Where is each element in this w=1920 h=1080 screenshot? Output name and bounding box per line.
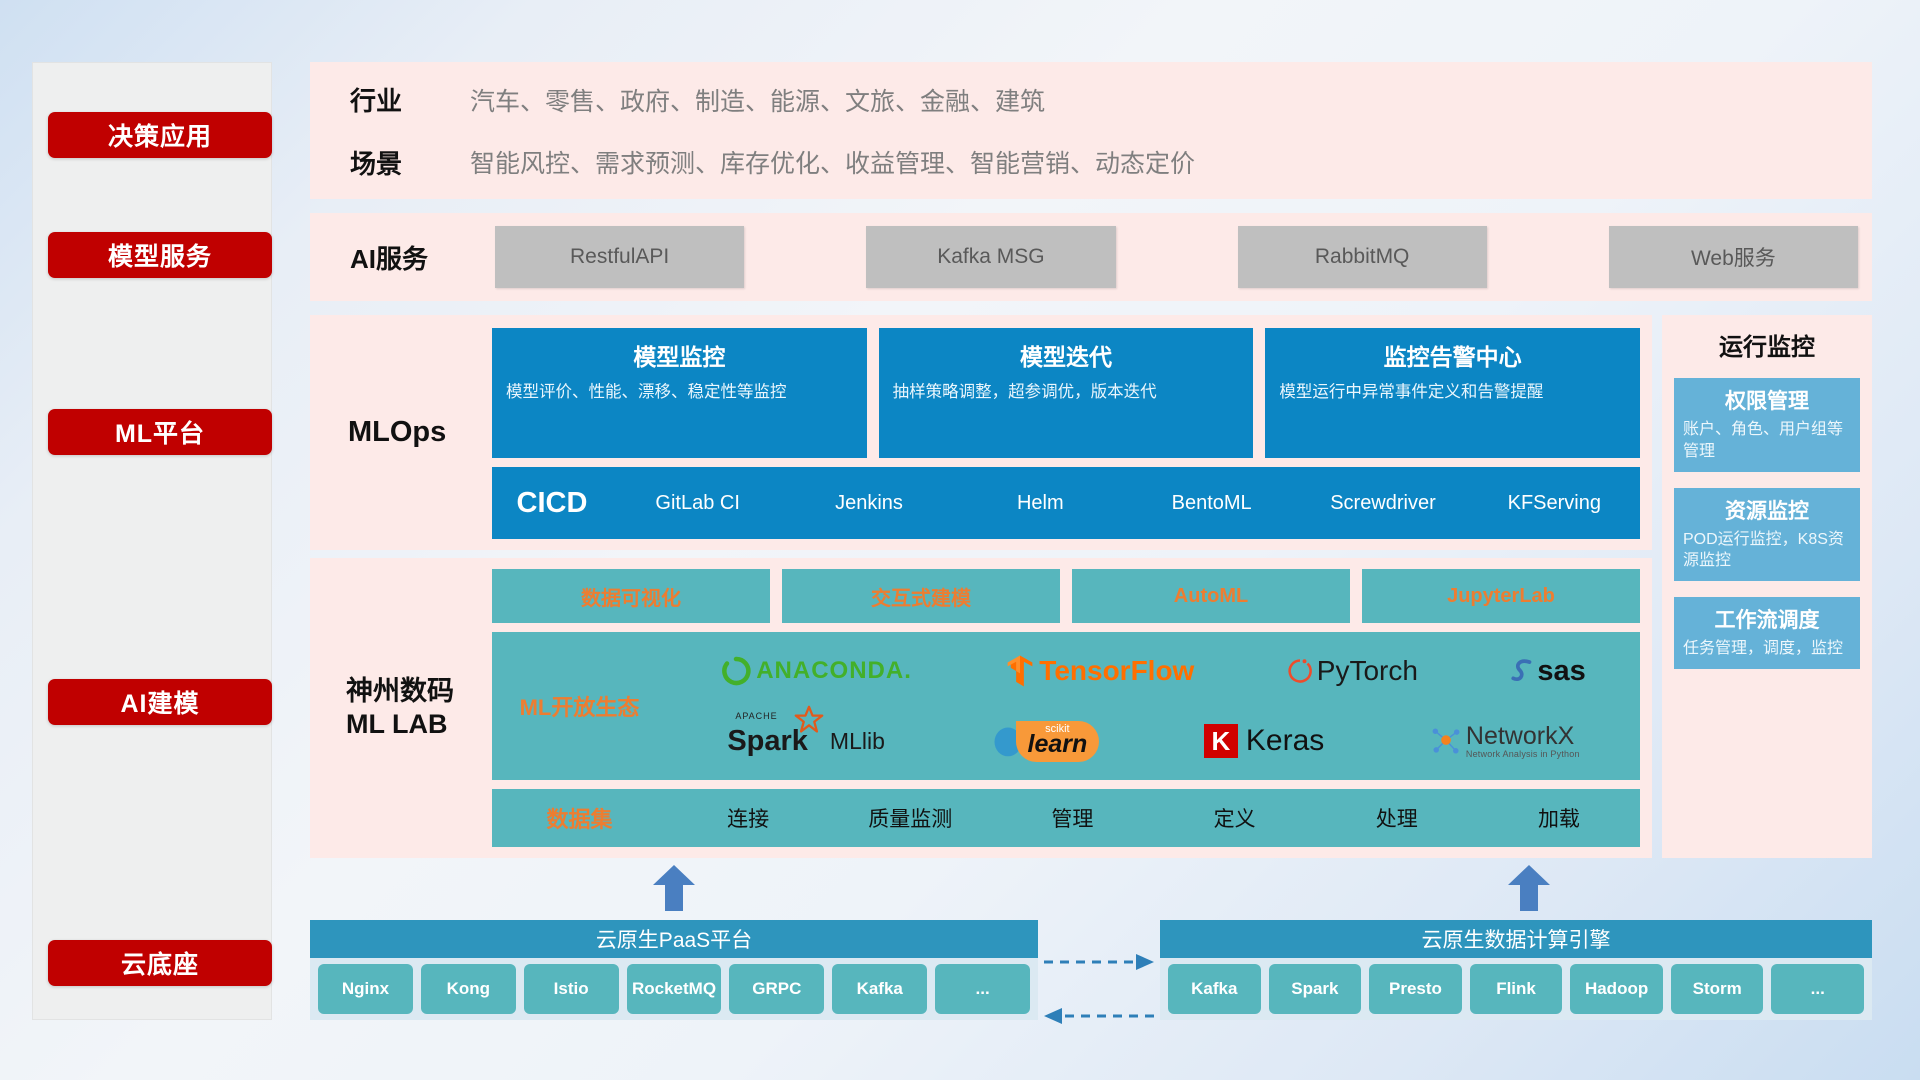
rail-chip-decision-app[interactable]: 决策应用 xyxy=(48,112,272,158)
networkx-logo: NetworkX Network Analysis in Python xyxy=(1429,724,1580,759)
ai-service-band: AI服务 RestfulAPI Kafka MSG RabbitMQ Web服务 xyxy=(310,213,1872,301)
tool-box-interactive-modeling[interactable]: 交互式建模 xyxy=(782,569,1060,623)
pytorch-wordmark: PyTorch xyxy=(1317,655,1418,687)
anaconda-logo: ANACONDA. xyxy=(721,656,912,686)
ml-lab-label-line2: ML LAB xyxy=(346,708,454,741)
up-arrow-right xyxy=(1508,865,1550,911)
mlops-label: MLOps xyxy=(348,315,446,550)
cicd-item-bentoml[interactable]: BentoML xyxy=(1126,493,1297,514)
spark-apache-text: APACHE xyxy=(735,711,777,721)
cicd-item-jenkins[interactable]: Jenkins xyxy=(783,493,954,514)
ml-logo-row-1: ANACONDA. TensorFlow xyxy=(675,638,1632,704)
up-arrow-icon xyxy=(1508,865,1550,911)
engine-chip-kafka[interactable]: Kafka xyxy=(1168,964,1261,1014)
bidirectional-link-arrows xyxy=(1038,920,1160,1040)
cicd-item-group: GitLab CI Jenkins Helm BentoML Screwdriv… xyxy=(612,493,1640,514)
engine-chip-spark[interactable]: Spark xyxy=(1269,964,1362,1014)
networkx-tagline: Network Analysis in Python xyxy=(1466,749,1580,759)
cloud-chip-more[interactable]: ... xyxy=(935,964,1030,1014)
dataset-item-quality[interactable]: 质量监测 xyxy=(829,803,991,833)
cloud-chip-nginx[interactable]: Nginx xyxy=(318,964,413,1014)
scikit-learn-logo: scikit learn xyxy=(990,721,1100,762)
cicd-title: CICD xyxy=(492,487,612,520)
mlops-band: MLOps 模型监控 模型评价、性能、漂移、稳定性等监控 模型迭代 抽样策略调整… xyxy=(310,315,1652,550)
monitoring-card-permission[interactable]: 权限管理 账户、角色、用户组等管理 xyxy=(1674,378,1860,472)
keras-icon: K xyxy=(1204,724,1238,758)
cloud-data-engine-chip-group: Kafka Spark Presto Flink Hadoop Storm ..… xyxy=(1160,958,1872,1020)
cicd-item-gitlab-ci[interactable]: GitLab CI xyxy=(612,493,783,514)
sas-logo: sas xyxy=(1510,655,1585,688)
learn-text: learn xyxy=(1028,732,1088,757)
pytorch-logo: PyTorch xyxy=(1287,655,1418,687)
tensorflow-logo: TensorFlow xyxy=(1004,654,1194,688)
spark-star-icon xyxy=(794,705,824,735)
application-value-column: 汽车、零售、政府、制造、能源、文旅、金融、建筑 智能风控、需求预测、库存优化、收… xyxy=(470,62,1195,199)
keras-logo: K Keras xyxy=(1204,724,1324,758)
mlops-card-model-iteration[interactable]: 模型迭代 抽样策略调整，超参调优，版本迭代 xyxy=(879,328,1254,458)
mlops-card-model-monitoring[interactable]: 模型监控 模型评价、性能、漂移、稳定性等监控 xyxy=(492,328,867,458)
monitoring-card-resource[interactable]: 资源监控 POD运行监控，K8S资源监控 xyxy=(1674,488,1860,582)
tensorflow-wordmark: TensorFlow xyxy=(1039,655,1194,687)
sas-icon xyxy=(1510,657,1536,685)
monitoring-card-desc: 账户、角色、用户组等管理 xyxy=(1683,419,1851,463)
application-band: 行业 场景 汽车、零售、政府、制造、能源、文旅、金融、建筑 智能风控、需求预测、… xyxy=(310,62,1872,199)
cloud-data-engine-title: 云原生数据计算引擎 xyxy=(1160,920,1872,958)
rail-chip-ml-platform[interactable]: ML平台 xyxy=(48,409,272,455)
rail-chip-model-service[interactable]: 模型服务 xyxy=(48,232,272,278)
scenario-label: 场景 xyxy=(350,144,460,181)
networkx-wordmark: NetworkX xyxy=(1466,724,1580,749)
mlops-card-desc: 模型评价、性能、漂移、稳定性等监控 xyxy=(506,381,853,404)
monitoring-card-workflow[interactable]: 工作流调度 任务管理，调度，监控 xyxy=(1674,597,1860,669)
cloud-paas-chip-group: Nginx Kong Istio RocketMQ GRPC Kafka ... xyxy=(310,958,1038,1020)
mlops-card-title: 监控告警中心 xyxy=(1279,338,1626,372)
ml-logo-row-2: APACHE Spark MLlib xyxy=(675,708,1632,774)
engine-chip-flink[interactable]: Flink xyxy=(1470,964,1563,1014)
cicd-item-kfserving[interactable]: KFServing xyxy=(1469,493,1640,514)
up-arrow-left xyxy=(653,865,695,911)
cicd-item-screwdriver[interactable]: Screwdriver xyxy=(1297,493,1468,514)
pytorch-icon xyxy=(1287,656,1313,686)
anaconda-wordmark: ANACONDA. xyxy=(756,657,912,685)
networkx-icon xyxy=(1429,725,1463,757)
dataset-item-process[interactable]: 处理 xyxy=(1316,803,1478,833)
spark-mllib-logo: APACHE Spark MLlib xyxy=(727,725,885,758)
ml-ecosystem-logo-area: ANACONDA. TensorFlow xyxy=(667,632,1640,780)
monitoring-title: 运行监控 xyxy=(1662,315,1872,362)
tool-box-jupyterlab[interactable]: JupyterLab xyxy=(1362,569,1640,623)
left-rail-background xyxy=(32,62,272,1020)
dashed-arrows-icon xyxy=(1038,920,1160,1040)
mlops-card-desc: 抽样策略调整，超参调优，版本迭代 xyxy=(893,381,1240,404)
monitoring-card-desc: 任务管理，调度，监控 xyxy=(1683,638,1851,660)
up-arrow-icon xyxy=(653,865,695,911)
ai-service-button-group: RestfulAPI Kafka MSG RabbitMQ Web服务 xyxy=(495,226,1858,288)
dataset-item-manage[interactable]: 管理 xyxy=(991,803,1153,833)
rail-chip-cloud-base[interactable]: 云底座 xyxy=(48,940,272,986)
ml-lab-label: 神州数码 ML LAB xyxy=(346,558,454,858)
dataset-item-load[interactable]: 加载 xyxy=(1478,803,1640,833)
mlops-card-alert-center[interactable]: 监控告警中心 模型运行中异常事件定义和告警提醒 xyxy=(1265,328,1640,458)
engine-chip-storm[interactable]: Storm xyxy=(1671,964,1764,1014)
ml-ecosystem-label: ML开放生态 xyxy=(492,690,667,722)
dataset-item-define[interactable]: 定义 xyxy=(1154,803,1316,833)
modeling-band: 神州数码 ML LAB 数据可视化 交互式建模 AutoML JupyterLa… xyxy=(310,558,1652,858)
cloud-paas-title: 云原生PaaS平台 xyxy=(310,920,1038,958)
industry-label: 行业 xyxy=(350,81,460,118)
rail-chip-ai-modeling[interactable]: AI建模 xyxy=(48,679,272,725)
dataset-item-connect[interactable]: 连接 xyxy=(667,803,829,833)
cloud-chip-kafka[interactable]: Kafka xyxy=(832,964,927,1014)
cloud-paas-panel: 云原生PaaS平台 Nginx Kong Istio RocketMQ GRPC… xyxy=(310,920,1038,1020)
ai-service-button-kafka-msg[interactable]: Kafka MSG xyxy=(866,226,1115,288)
ai-service-button-rabbitmq[interactable]: RabbitMQ xyxy=(1238,226,1487,288)
monitoring-column: 运行监控 权限管理 账户、角色、用户组等管理 资源监控 POD运行监控，K8S资… xyxy=(1662,315,1872,858)
ai-service-label: AI服务 xyxy=(350,213,428,301)
industry-value: 汽车、零售、政府、制造、能源、文旅、金融、建筑 xyxy=(470,82,1195,118)
ai-service-button-web-service[interactable]: Web服务 xyxy=(1609,226,1858,288)
modeling-tool-group: 数据可视化 交互式建模 AutoML JupyterLab xyxy=(492,569,1640,623)
engine-chip-hadoop[interactable]: Hadoop xyxy=(1570,964,1663,1014)
cloud-data-engine-panel: 云原生数据计算引擎 Kafka Spark Presto Flink Hadoo… xyxy=(1160,920,1872,1020)
cloud-chip-istio[interactable]: Istio xyxy=(524,964,619,1014)
ml-lab-label-line1: 神州数码 xyxy=(346,675,454,708)
scenario-value: 智能风控、需求预测、库存优化、收益管理、智能营销、动态定价 xyxy=(470,144,1195,180)
ml-ecosystem-row: ML开放生态 ANACONDA. xyxy=(492,632,1640,780)
dataset-item-group: 连接 质量监测 管理 定义 处理 加载 xyxy=(667,803,1640,833)
tool-box-data-visualization[interactable]: 数据可视化 xyxy=(492,569,770,623)
mllib-wordmark: MLlib xyxy=(830,728,885,755)
monitoring-card-title: 资源监控 xyxy=(1683,495,1851,525)
tool-box-automl[interactable]: AutoML xyxy=(1072,569,1350,623)
dataset-row: 数据集 连接 质量监测 管理 定义 处理 加载 xyxy=(492,789,1640,847)
sas-wordmark: sas xyxy=(1537,655,1585,688)
anaconda-icon xyxy=(721,656,751,686)
monitoring-card-title: 权限管理 xyxy=(1683,385,1851,415)
cloud-chip-rocketmq[interactable]: RocketMQ xyxy=(627,964,722,1014)
monitoring-card-desc: POD运行监控，K8S资源监控 xyxy=(1683,529,1851,573)
monitoring-card-title: 工作流调度 xyxy=(1683,604,1851,634)
mlops-card-group: 模型监控 模型评价、性能、漂移、稳定性等监控 模型迭代 抽样策略调整，超参调优，… xyxy=(492,328,1640,458)
dataset-title: 数据集 xyxy=(492,802,667,834)
mlops-card-desc: 模型运行中异常事件定义和告警提醒 xyxy=(1279,381,1626,404)
cicd-bar: CICD GitLab CI Jenkins Helm BentoML Scre… xyxy=(492,467,1640,539)
cicd-item-helm[interactable]: Helm xyxy=(955,493,1126,514)
cloud-chip-grpc[interactable]: GRPC xyxy=(729,964,824,1014)
ai-service-button-restfulapi[interactable]: RestfulAPI xyxy=(495,226,744,288)
cloud-chip-kong[interactable]: Kong xyxy=(421,964,516,1014)
engine-chip-presto[interactable]: Presto xyxy=(1369,964,1462,1014)
diagram-canvas: 决策应用 模型服务 ML平台 AI建模 云底座 行业 场景 汽车、零售、政府、制… xyxy=(0,0,1920,1080)
mlops-card-title: 模型监控 xyxy=(506,338,853,372)
engine-chip-more[interactable]: ... xyxy=(1771,964,1864,1014)
keras-mark-letter: K xyxy=(1212,726,1231,757)
keras-wordmark: Keras xyxy=(1246,724,1324,758)
application-label-column: 行业 场景 xyxy=(350,62,460,199)
mlops-card-title: 模型迭代 xyxy=(893,338,1240,372)
tensorflow-icon xyxy=(1004,654,1036,688)
